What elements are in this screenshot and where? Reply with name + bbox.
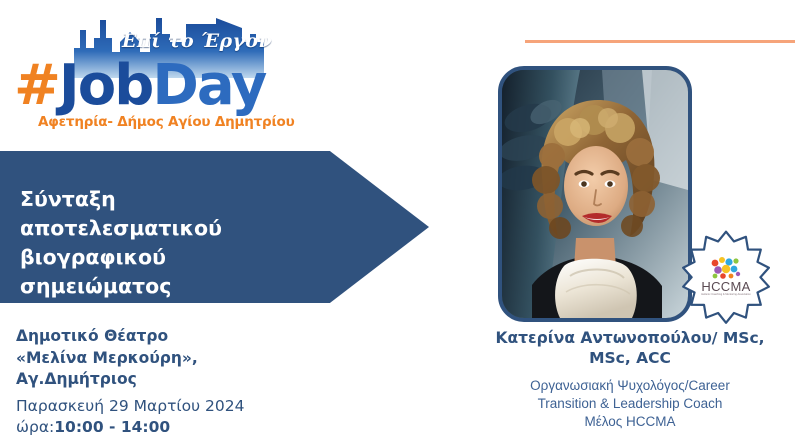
banner-title: Σύνταξη αποτελεσματικού βιογραφικού σημε… [20,185,310,301]
logo-word-day: Day [152,53,265,118]
hccma-logo: HCCMA Hellenic Coaching & Mentoring Asso… [700,250,752,302]
date-time-info: Παρασκευή 29 Μαρτίου 2024 ώρα:10:00 - 14… [16,396,316,439]
logo-tagline: Αφετηρία- Δήμος Αγίου Δημητρίου [38,114,295,130]
venue-line-3: Αγ.Δημήτριος [16,369,296,391]
hccma-badge: HCCMA Hellenic Coaching & Mentoring Asso… [678,228,774,324]
banner-title-line-2: βιογραφικού σημειώματος [20,243,310,301]
hccma-subtitle: Hellenic Coaching & Mentoring Associatio… [701,294,750,297]
speaker-role-line-2: Transition & Leadership Coach [460,395,800,413]
jobday-logo: Επί το Έργον #JobDay Αφετηρία- Δήμος Αγί… [14,6,272,134]
jobday-wordmark: #JobDay [14,53,272,115]
venue-line-1: Δημοτικό Θέατρο [16,326,296,348]
event-time-row: ώρα:10:00 - 14:00 [16,417,316,438]
hccma-wordmark: HCCMA [701,280,750,293]
speaker-role-line-1: Οργανωσιακή Ψυχολόγος/Career [460,377,800,395]
hash-symbol: # [14,53,59,118]
time-value: 10:00 - 14:00 [54,418,170,436]
venue-line-2: «Μελίνα Μερκούρη», [16,348,296,370]
speaker-name: Κατερίνα Αντωνοπούλου/ MSc, MSc, ACC [460,328,800,369]
accent-rule-divider [525,40,795,43]
logo-word-job: Job [59,53,152,118]
speaker-name-line-2: MSc, ACC [460,348,800,368]
speaker-photo [498,66,692,322]
event-date: Παρασκευή 29 Μαρτίου 2024 [16,396,316,417]
speaker-name-line-1: Κατερίνα Αντωνοπούλου/ MSc, [460,328,800,348]
speaker-role: Οργανωσιακή Ψυχολόγος/Career Transition … [460,377,800,432]
time-label: ώρα: [16,418,54,436]
arrow-banner: Σύνταξη αποτελεσματικού βιογραφικού σημε… [0,151,429,303]
venue-info: Δημοτικό Θέατρο «Μελίνα Μερκούρη», Αγ.Δη… [16,326,296,391]
banner-title-line-1: Σύνταξη αποτελεσματικού [20,185,310,243]
speaker-role-line-3: Μέλος HCCMA [460,413,800,431]
logo-script-caption: Επί το Έργον [122,30,272,52]
event-poster: Επί το Έργον #JobDay Αφετηρία- Δήμος Αγί… [0,0,800,445]
